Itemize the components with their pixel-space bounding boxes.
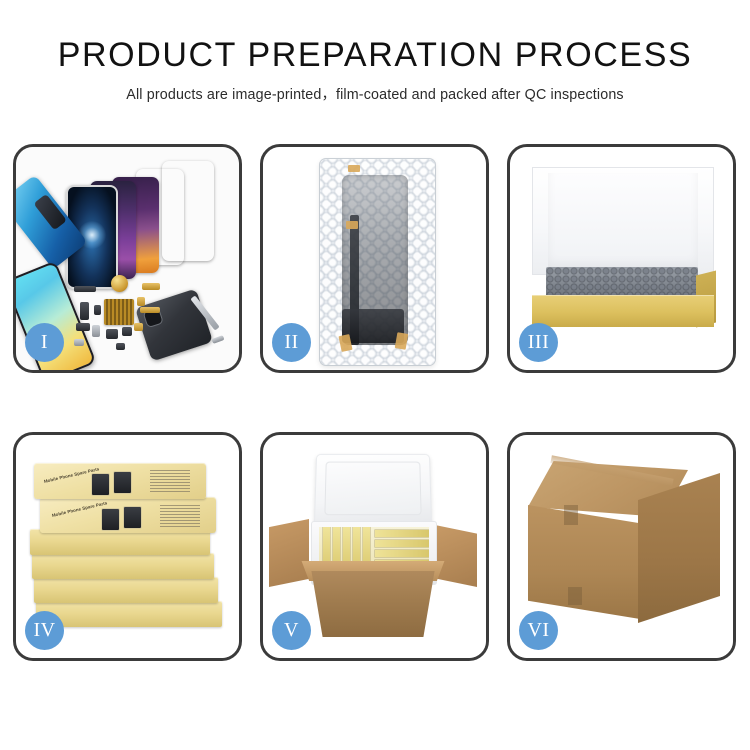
stacked-box-layer [34, 577, 218, 603]
step-badge-4: IV [25, 611, 64, 650]
stacked-box-labeled: Mobile Phone Spare Parts [40, 497, 216, 533]
page-title: PRODUCT PREPARATION PROCESS [0, 38, 750, 74]
step-badge-1: I [25, 323, 64, 362]
bubble-wrap-fill-icon [546, 267, 698, 297]
tape-top-icon [348, 165, 360, 172]
packed-box-icon [375, 550, 429, 557]
part-flex-cable-icon [142, 283, 160, 290]
foam-lid-icon [314, 454, 432, 528]
vibration-motor-icon [111, 275, 128, 292]
step-badge-2: II [272, 323, 311, 362]
page-header: PRODUCT PREPARATION PROCESS All products… [0, 0, 750, 104]
step-badge-5: V [272, 611, 311, 650]
box-window-left-icon [102, 509, 119, 530]
part-ic-icon [94, 305, 101, 315]
process-step-panel-4[interactable]: Mobile Phone Spare Parts Mobile Phone Sp… [13, 432, 242, 661]
part-screw-set-icon [134, 323, 143, 331]
box-spec-lines [160, 505, 200, 527]
part-sim-tray-icon [92, 325, 100, 337]
process-step-grid: I II III [13, 144, 737, 661]
part-connector-icon [137, 297, 145, 306]
carton-flap-right-icon [435, 525, 477, 587]
process-step-panel-5[interactable]: V [260, 432, 489, 661]
page-subtitle: All products are image-printed，film-coat… [0, 83, 750, 104]
process-step-panel-2[interactable]: II [260, 144, 489, 373]
part-earpiece-icon [122, 327, 132, 336]
box-spec-lines [150, 470, 190, 492]
box-window-left-icon [92, 474, 109, 495]
stacked-box-layer [36, 601, 222, 627]
shipping-carton [528, 461, 720, 627]
tape-bottom-right-icon [395, 332, 409, 350]
bubble-wrap-pouch-icon [320, 159, 435, 365]
box-window-right-icon [124, 507, 141, 528]
carton-body-icon [303, 571, 443, 637]
part-sensor-icon [116, 343, 125, 350]
process-step-panel-3[interactable]: III [507, 144, 736, 373]
carton-tape-seam-lower-icon [568, 587, 582, 605]
foam-lid-inner-icon [324, 462, 421, 516]
box-front-panel-icon [532, 295, 714, 327]
chip-array-icon [104, 299, 134, 325]
process-step-panel-1[interactable]: I [13, 144, 242, 373]
part-speaker-icon [74, 286, 96, 292]
box-window-right-icon [114, 472, 131, 493]
packed-box-icon [375, 540, 429, 547]
packed-box-icon [375, 530, 429, 537]
step-badge-6: VI [519, 611, 558, 650]
part-ribbon-icon [140, 307, 160, 313]
part-button-icon [76, 323, 90, 331]
process-step-panel-6[interactable]: VI [507, 432, 736, 661]
carton-left-face-icon [528, 505, 640, 619]
step-badge-3: III [519, 323, 558, 362]
part-vibrator-icon [106, 329, 118, 339]
part-bracket-icon [74, 339, 84, 346]
box-label-text: Mobile Phone Spare Parts [51, 500, 107, 518]
carton-flap-left-icon [269, 519, 309, 587]
flex-cable-lower-icon [342, 309, 404, 343]
stacked-box-layer [32, 553, 214, 579]
part-camera-icon [80, 302, 89, 320]
box-lid-inner-icon [548, 173, 698, 269]
carton-tape-seam-upper-icon [564, 505, 578, 525]
tape-mid-icon [346, 221, 358, 229]
stacked-box-labeled: Mobile Phone Spare Parts [34, 463, 206, 499]
